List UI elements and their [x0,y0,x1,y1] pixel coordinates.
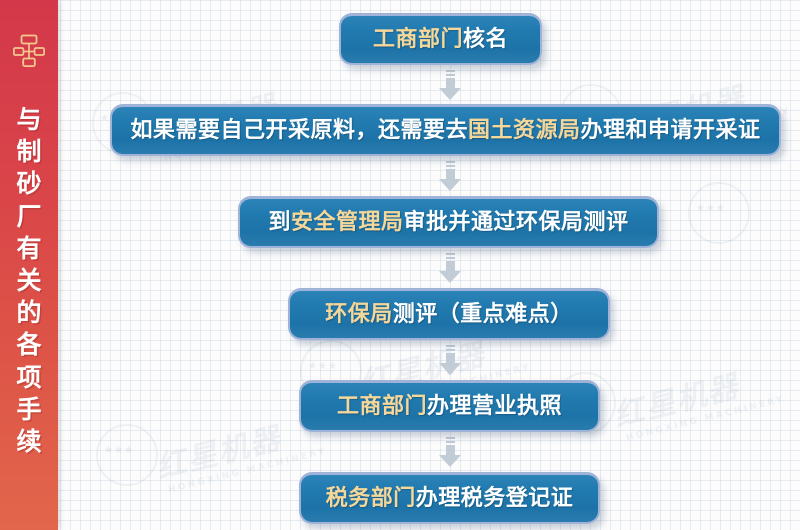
flow-step-2[interactable]: 如果需要自己开采原料，还需要去国土资源局办理和申请开采证 [110,104,781,156]
flow-step-3-segment-plain: 到 [268,210,291,235]
org-chart-icon [13,34,45,68]
arrow-dash [446,437,455,439]
flow-step-2-segment-plain-2: 办理和申请开采证 [581,118,761,143]
infographic-canvas: 红星机器 HONGXING MACHINERY 红星机器 HONGXING MA… [0,0,800,530]
flow-step-3-segment-plain-2: 审批并通过环保局测评 [404,210,629,235]
sidebar-title-char: 有 [0,233,58,265]
arrow-dash [446,165,455,167]
flow-step-2-segment-highlight: 国土资源局 [468,118,581,143]
arrow-head [439,179,461,191]
sidebar-title-char: 的 [0,297,58,329]
arrow-head [439,271,461,283]
flow-step-2-caption: 如果需要自己开采原料，还需要去国土资源局办理和申请开采证 [130,120,760,142]
arrow-head [439,363,461,375]
arrow-stem [446,169,455,179]
flow-step-4-caption: 环保局测评（重点难点） [325,304,573,326]
sidebar-banner: 与 制 砂 厂 有 关 的 各 项 手 续 [0,0,58,530]
flow-step-3-caption: 到安全管理局审批并通过环保局测评 [268,212,628,234]
sidebar-title: 与 制 砂 厂 有 关 的 各 项 手 续 [0,104,58,458]
sidebar-title-char: 续 [0,426,58,458]
arrow-dash [446,161,455,163]
flow-step-5[interactable]: 工商部门办理营业执照 [299,380,600,432]
flow-step-1-caption: 工商部门核名 [373,29,508,51]
sidebar-title-char: 与 [0,104,58,136]
flow-step-3-segment-highlight: 安全管理局 [291,210,404,235]
flow-arrow-4 [437,345,463,377]
arrow-dash [446,441,455,443]
flow-arrow-1 [437,70,463,102]
flow-step-1-segment-highlight: 工商部门 [373,27,463,52]
sidebar-title-char: 项 [0,362,58,394]
arrow-head [439,88,461,100]
flow-step-5-segment-highlight: 工商部门 [337,394,427,419]
arrow-stem [446,353,455,363]
flow-step-1-segment-plain: 核名 [463,27,508,52]
arrow-dash [446,349,455,351]
graph-paper-background [0,0,800,530]
flow-step-2-segment-plain: 如果需要自己开采原料，还需要去 [130,118,468,143]
arrow-stem [446,261,455,271]
sidebar-title-char: 砂 [0,168,58,200]
arrow-dash [446,253,455,255]
flow-step-5-segment-plain: 办理营业执照 [427,394,562,419]
flow-step-6[interactable]: 税务部门办理税务登记证 [299,472,600,524]
sidebar-title-char: 手 [0,394,58,426]
flow-step-5-caption: 工商部门办理营业执照 [337,396,562,418]
flow-step-6-segment-plain: 办理税务登记证 [416,486,574,511]
arrow-dash [446,74,455,76]
flow-arrow-3 [437,253,463,285]
sidebar-title-char: 各 [0,329,58,361]
arrow-head [439,455,461,467]
flow-step-4-segment-highlight: 环保局 [325,302,393,327]
sidebar-title-char: 关 [0,265,58,297]
arrow-dash [446,70,455,72]
sidebar-title-char: 厂 [0,201,58,233]
arrow-stem [446,445,455,455]
flow-arrow-2 [437,161,463,193]
flow-step-6-segment-highlight: 税务部门 [326,486,416,511]
arrow-dash [446,257,455,259]
arrow-dash [446,345,455,347]
flow-step-4[interactable]: 环保局测评（重点难点） [288,288,610,340]
sidebar-title-char: 制 [0,136,58,168]
flow-step-6-caption: 税务部门办理税务登记证 [326,488,574,510]
arrow-stem [446,78,455,88]
flow-step-4-segment-plain: 测评（重点难点） [393,302,573,327]
flow-step-1[interactable]: 工商部门核名 [339,13,542,65]
flow-step-3[interactable]: 到安全管理局审批并通过环保局测评 [238,196,659,248]
flow-arrow-5 [437,437,463,469]
